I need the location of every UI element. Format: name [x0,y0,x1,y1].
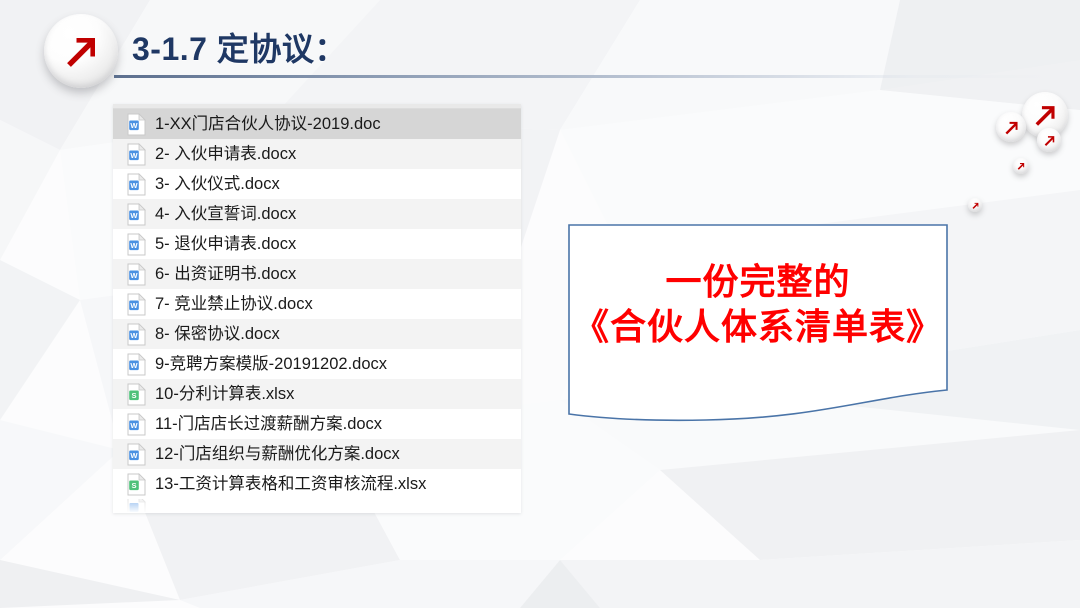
file-name: 4- 入伙宣誓词.docx [155,206,296,223]
file-list[interactable]: W1-XX门店合伙人协议-2019.docW2- 入伙申请表.docxW3- 入… [113,109,521,499]
title-badge [44,14,118,88]
file-name: 11-门店店长过渡薪酬方案.docx [155,416,382,433]
word-doc-icon: W [127,113,146,136]
svg-text:W: W [130,150,138,159]
svg-text:W: W [130,240,138,249]
svg-text:W: W [130,180,138,189]
file-name: 7- 竞业禁止协议.docx [155,296,313,313]
word-doc-icon: W [127,173,146,196]
list-item[interactable]: W3- 入伙仪式.docx [113,169,521,199]
list-item[interactable]: W1-XX门店合伙人协议-2019.doc [113,109,521,139]
word-doc-icon: W [127,293,146,316]
svg-text:W: W [130,330,138,339]
word-doc-icon: W [127,413,146,436]
word-doc-icon: W [127,443,146,466]
file-list-panel[interactable]: W1-XX门店合伙人协议-2019.docW2- 入伙申请表.docxW3- 入… [113,104,521,513]
file-name: 12-门店组织与薪酬优化方案.docx [155,446,400,463]
list-item[interactable]: W6- 出资证明书.docx [113,259,521,289]
list-item[interactable]: W4- 入伙宣誓词.docx [113,199,521,229]
svg-text:W: W [130,210,138,219]
file-name: 1-XX门店合伙人协议-2019.doc [155,116,381,133]
list-item[interactable]: W5- 退伙申请表.docx [113,229,521,259]
excel-doc-icon: S [127,473,146,496]
arrow-tiny-1 [1013,158,1029,174]
svg-text:W: W [130,450,138,459]
excel-doc-icon: S [127,383,146,406]
callout-line-1: 一份完整的 [566,260,950,305]
svg-text:W: W [130,360,138,369]
callout-text: 一份完整的 《合伙人体系清单表》 [566,260,950,351]
word-doc-icon: W [127,263,146,286]
arrow-up-right-icon [1016,161,1026,171]
list-item[interactable]: W12-门店组织与薪酬优化方案.docx [113,439,521,469]
file-name: 5- 退伙申请表.docx [155,236,296,253]
list-item[interactable]: W9-竞聘方案模版-20191202.docx [113,349,521,379]
svg-text:W: W [130,420,138,429]
file-name: 3- 入伙仪式.docx [155,176,280,193]
file-name: 2- 入伙申请表.docx [155,146,296,163]
svg-text:W: W [130,120,138,129]
list-item[interactable]: W7- 竞业禁止协议.docx [113,289,521,319]
callout-box: 一份完整的 《合伙人体系清单表》 [566,222,950,422]
arrow-up-right-icon [1002,118,1021,137]
arrow-up-right-icon [1030,100,1060,130]
word-doc-icon: W [127,143,146,166]
svg-text:W: W [130,300,138,309]
list-item[interactable]: S13-工资计算表格和工资审核流程.xlsx [113,469,521,499]
file-name: 10-分利计算表.xlsx [155,386,294,403]
file-name: 8- 保密协议.docx [155,326,280,343]
svg-text:S: S [131,480,136,489]
word-doc-icon: W [127,203,146,226]
list-item[interactable]: W11-门店店长过渡薪酬方案.docx [113,409,521,439]
word-doc-icon: W [127,233,146,256]
svg-text:W: W [130,270,138,279]
arrow-up-right-icon [971,201,980,210]
file-name: 9-竞聘方案模版-20191202.docx [155,356,387,373]
word-doc-icon: W [127,323,146,346]
arrow-tiny-2 [968,198,982,212]
list-item[interactable]: W8- 保密协议.docx [113,319,521,349]
list-item[interactable]: S10-分利计算表.xlsx [113,379,521,409]
page-title: 3-1.7 定协议： [132,33,347,69]
file-name: 6- 出资证明书.docx [155,266,296,283]
arrow-bubble-medium [996,112,1026,142]
svg-text:S: S [131,390,136,399]
callout-line-2: 《合伙人体系清单表》 [566,305,950,350]
title-divider [114,75,1054,78]
word-doc-icon: W [127,353,146,376]
arrow-bubble-small [1037,128,1061,152]
list-item-partial [113,499,521,513]
arrow-up-right-icon [1042,133,1057,148]
list-item[interactable]: W2- 入伙申请表.docx [113,139,521,169]
arrow-up-right-icon [59,29,103,73]
file-name: 13-工资计算表格和工资审核流程.xlsx [155,476,426,493]
